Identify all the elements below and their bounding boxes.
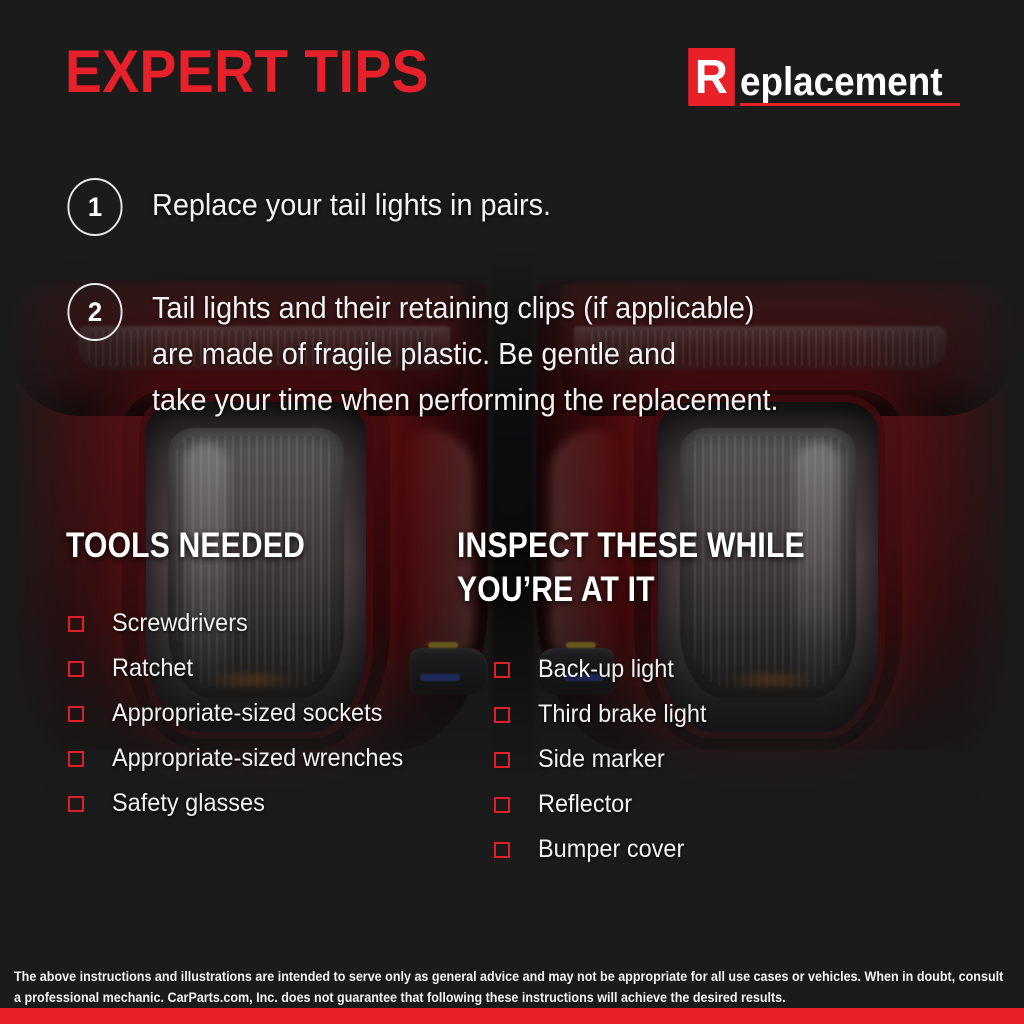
tip-number-badge: 2 (67, 283, 122, 341)
logo-underline (740, 103, 960, 106)
footer-disclaimer: The above instructions and illustrations… (0, 966, 1024, 1008)
content-layer: EXPERT TIPS R eplacement 1 Replace your … (0, 0, 1024, 1024)
tip-text: Replace your tail lights in pairs. (152, 182, 551, 228)
list-item-label: Ratchet (112, 656, 193, 681)
list-item-label: Back-up light (538, 657, 674, 682)
checkbox-icon[interactable] (68, 751, 84, 767)
list-item[interactable]: Side marker (494, 737, 717, 782)
inspect-these-heading: INSPECT THESE WHILE YOU’RE AT IT (457, 524, 853, 612)
list-item[interactable]: Safety glasses (68, 781, 422, 826)
list-item[interactable]: Screwdrivers (68, 601, 422, 646)
list-item-label: Screwdrivers (112, 611, 248, 636)
logo-wordmark: eplacement (736, 62, 960, 106)
tools-needed-list: Screwdrivers Ratchet Appropriate-sized s… (68, 601, 422, 826)
list-item-label: Appropriate-sized sockets (112, 701, 382, 726)
tools-needed-heading: TOOLS NEEDED (66, 524, 305, 568)
checkbox-icon[interactable] (494, 707, 510, 723)
logo-word-text: eplacement (740, 62, 943, 106)
checkbox-icon[interactable] (68, 706, 84, 722)
tip-text: Tail lights and their retaining clips (i… (152, 285, 779, 423)
list-item[interactable]: Third brake light (494, 692, 717, 737)
replacement-logo: R eplacement (687, 48, 960, 106)
tip-item-1: 1 Replace your tail lights in pairs. (66, 178, 581, 236)
list-item[interactable]: Back-up light (494, 647, 717, 692)
tip-item-2: 2 Tail lights and their retaining clips … (66, 283, 826, 423)
checkbox-icon[interactable] (494, 752, 510, 768)
page-title: EXPERT TIPS (65, 42, 429, 102)
logo-initial-badge: R (688, 48, 734, 106)
bottom-accent-bar (0, 1008, 1024, 1024)
list-item-label: Reflector (538, 792, 632, 817)
checkbox-icon[interactable] (68, 661, 84, 677)
checkbox-icon[interactable] (494, 797, 510, 813)
list-item-label: Bumper cover (538, 837, 684, 862)
list-item[interactable]: Bumper cover (494, 827, 717, 872)
list-item-label: Safety glasses (112, 791, 265, 816)
checkbox-icon[interactable] (68, 796, 84, 812)
list-item[interactable]: Appropriate-sized wrenches (68, 736, 422, 781)
infographic-canvas: EXPERT TIPS R eplacement 1 Replace your … (0, 0, 1024, 1024)
tip-number-badge: 1 (67, 178, 122, 236)
disclaimer-text: The above instructions and illustrations… (14, 966, 1005, 1008)
list-item[interactable]: Ratchet (68, 646, 422, 691)
inspect-these-list: Back-up light Third brake light Side mar… (494, 647, 717, 872)
list-item-label: Appropriate-sized wrenches (112, 746, 403, 771)
checkbox-icon[interactable] (494, 842, 510, 858)
list-item-label: Third brake light (538, 702, 706, 727)
list-item-label: Side marker (538, 747, 665, 772)
checkbox-icon[interactable] (494, 662, 510, 678)
list-item[interactable]: Reflector (494, 782, 717, 827)
list-item[interactable]: Appropriate-sized sockets (68, 691, 422, 736)
checkbox-icon[interactable] (68, 616, 84, 632)
